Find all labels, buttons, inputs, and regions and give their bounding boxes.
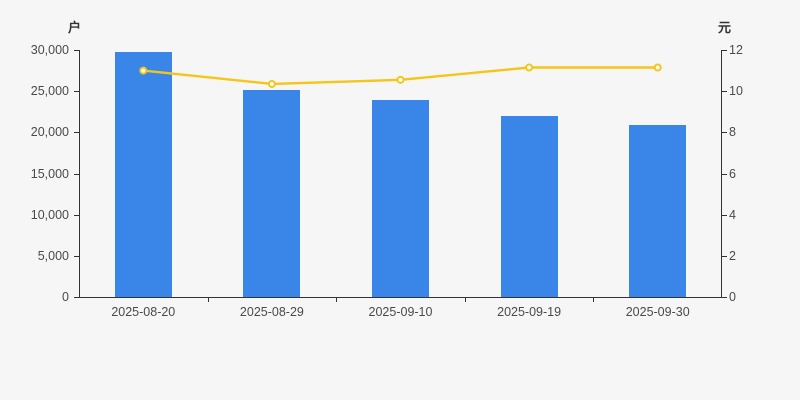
y-axis-right-tick-label: 8 (729, 126, 736, 139)
y-axis-left-tick-label: 10,000 (31, 208, 69, 221)
bar-2025-09-10[interactable] (372, 100, 429, 297)
y-axis-left-tick-label: 15,000 (31, 167, 69, 180)
line-marker-2025-09-30[interactable]: 2025-09-30: 11.15 元 (655, 64, 661, 70)
y-axis-left-tick (74, 132, 79, 133)
y-axis-right-tick-label: 4 (729, 208, 736, 221)
bar-2025-08-20[interactable] (115, 52, 172, 297)
y-axis-left-tick (74, 215, 79, 216)
y-axis-left-tick-label: 5,000 (38, 250, 69, 263)
y-axis-left-tick-label: 0 (62, 291, 69, 304)
x-axis-category-label: 2025-09-19 (497, 305, 561, 319)
chart-container: 户 元 05,00010,00015,00020,00025,00030,000… (0, 0, 800, 400)
right-axis-unit-label: 元 (718, 17, 731, 36)
x-axis-category-label: 2025-08-20 (111, 305, 175, 319)
y-axis-left-tick-label: 25,000 (31, 85, 69, 98)
x-axis-tick (593, 297, 594, 302)
y-axis-right-tick-label: 6 (729, 167, 736, 180)
x-axis-line (79, 297, 722, 298)
left-axis-unit-label: 户 (68, 17, 81, 36)
y-axis-left-tick (74, 297, 79, 298)
line-marker-2025-09-10[interactable]: 2025-09-10: 10.55 元 (398, 77, 404, 83)
y-axis-right-tick (722, 256, 727, 257)
y-axis-right-tick (722, 174, 727, 175)
y-axis-left-tick (74, 50, 79, 51)
y-axis-right-tick-label: 10 (729, 85, 743, 98)
bar-2025-09-30[interactable] (629, 125, 686, 297)
y-axis-right-tick (722, 132, 727, 133)
x-axis-tick (465, 297, 466, 302)
y-axis-left-tick (74, 91, 79, 92)
line-marker-2025-08-29[interactable]: 2025-08-29: 10.35 元 (269, 81, 275, 87)
y-axis-right-tick (722, 215, 727, 216)
y-axis-right-tick-label: 0 (729, 291, 736, 304)
y-axis-right-tick (722, 50, 727, 51)
x-axis-tick (336, 297, 337, 302)
bar-2025-08-29[interactable] (243, 90, 300, 297)
y-axis-left-line (79, 50, 80, 298)
x-axis-tick (208, 297, 209, 302)
y-axis-left-tick (74, 256, 79, 257)
y-axis-left-tick-label: 20,000 (31, 126, 69, 139)
y-axis-left-tick-label: 30,000 (31, 44, 69, 57)
x-axis-category-label: 2025-09-10 (369, 305, 433, 319)
y-axis-left-tick (74, 174, 79, 175)
y-axis-right-tick-label: 12 (729, 44, 743, 57)
y-axis-right-tick (722, 91, 727, 92)
line-path (143, 67, 657, 83)
y-axis-right-tick-label: 2 (729, 250, 736, 263)
x-axis-category-label: 2025-09-30 (626, 305, 690, 319)
line-marker-2025-09-19[interactable]: 2025-09-19: 11.15 元 (526, 64, 532, 70)
y-axis-right-tick (722, 297, 727, 298)
bar-2025-09-19[interactable] (501, 116, 558, 297)
x-axis-category-label: 2025-08-29 (240, 305, 304, 319)
